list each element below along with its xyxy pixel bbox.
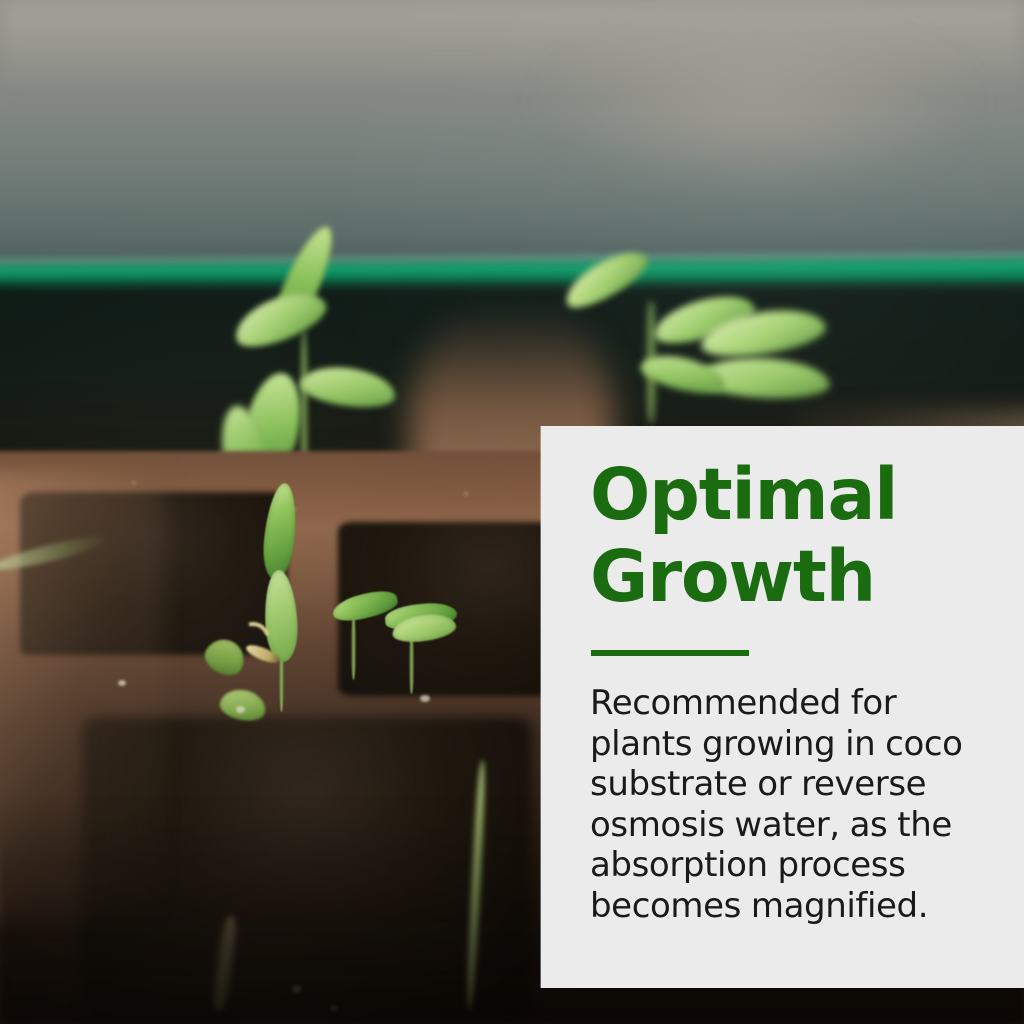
seedling-stem bbox=[351, 614, 356, 680]
text-panel: Optimal Growth Recommended for plants gr… bbox=[541, 426, 1024, 988]
page-title: Optimal Growth bbox=[590, 454, 897, 618]
wall-warm-glow bbox=[532, 10, 983, 194]
promo-card: Optimal Growth Recommended for plants gr… bbox=[0, 0, 1024, 1024]
body-text: Recommended for plants growing in coco s… bbox=[590, 683, 998, 926]
title-divider bbox=[591, 650, 749, 656]
soil-speck bbox=[236, 706, 245, 713]
seedling-stem bbox=[409, 634, 414, 694]
soil-speck bbox=[118, 680, 126, 686]
text-panel-content: Optimal Growth Recommended for plants gr… bbox=[590, 426, 1000, 988]
soil-speck bbox=[420, 695, 430, 702]
